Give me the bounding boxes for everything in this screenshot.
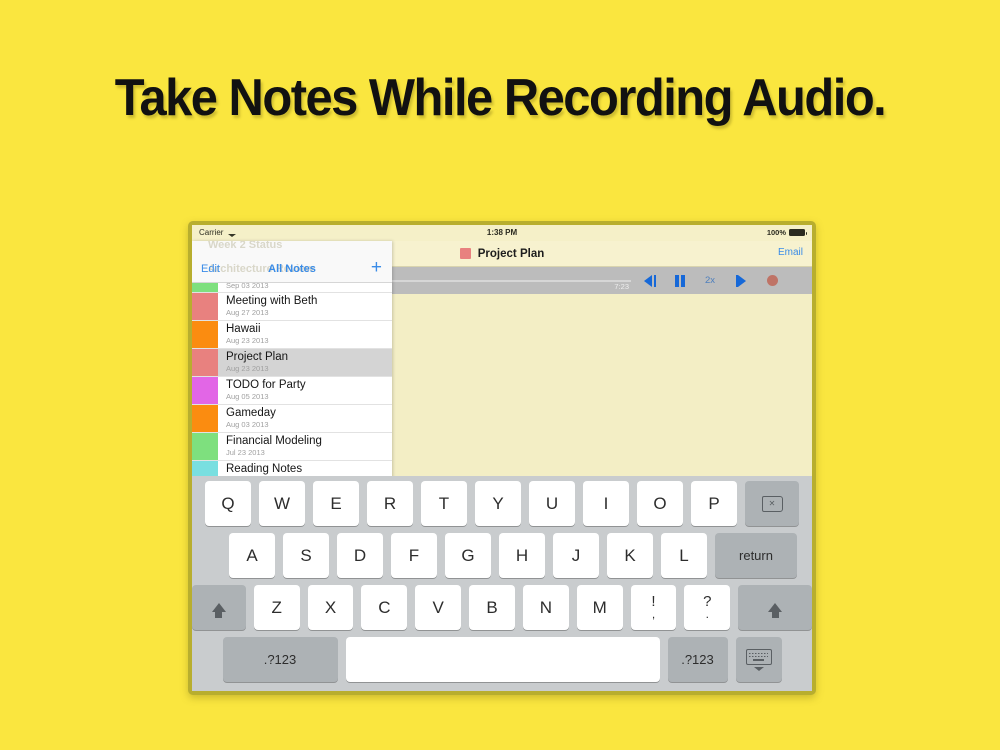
key-m[interactable]: M bbox=[577, 585, 623, 630]
list-item[interactable]: Gameday Aug 03 2013 bbox=[192, 405, 392, 433]
key-i[interactable]: I bbox=[583, 481, 629, 526]
note-item-date: Aug 03 2013 bbox=[226, 420, 269, 429]
key-k[interactable]: K bbox=[607, 533, 653, 578]
notes-list: Sep 03 2013 Meeting with Beth Aug 27 201… bbox=[192, 283, 392, 489]
hide-keyboard-icon bbox=[746, 649, 772, 671]
sidebar-header: Week 2 Status Architecture Review Edit A… bbox=[192, 241, 392, 283]
key-comma-label: , bbox=[652, 609, 655, 620]
note-meta: Sep 03 2013 bbox=[218, 283, 392, 292]
key-t[interactable]: T bbox=[421, 481, 467, 526]
note-item-title: Meeting with Beth bbox=[226, 295, 317, 307]
note-color-swatch bbox=[192, 349, 218, 376]
hide-keyboard-key[interactable] bbox=[736, 637, 782, 682]
sidebar-title: All Notes bbox=[192, 263, 392, 275]
shift-icon bbox=[212, 603, 226, 612]
note-item-date: Aug 27 2013 bbox=[226, 308, 269, 317]
page-title: Take Notes While Recording Audio. bbox=[30, 68, 970, 128]
key-question-period[interactable]: ? . bbox=[684, 585, 730, 630]
status-time: 1:38 PM bbox=[192, 228, 812, 237]
note-color-chip bbox=[460, 248, 471, 259]
key-j[interactable]: J bbox=[553, 533, 599, 578]
list-item-selected[interactable]: Project Plan Aug 23 2013 bbox=[192, 349, 392, 377]
pause-icon bbox=[675, 275, 685, 287]
pause-button[interactable] bbox=[665, 267, 695, 294]
shift-right-key[interactable] bbox=[738, 585, 812, 630]
key-d[interactable]: D bbox=[337, 533, 383, 578]
note-item-date: Jul 23 2013 bbox=[226, 448, 265, 457]
key-h[interactable]: H bbox=[499, 533, 545, 578]
note-meta: TODO for Party Aug 05 2013 bbox=[218, 377, 392, 404]
note-item-date: Aug 23 2013 bbox=[226, 336, 269, 345]
note-meta: Gameday Aug 03 2013 bbox=[218, 405, 392, 432]
key-q[interactable]: Q bbox=[205, 481, 251, 526]
note-color-swatch bbox=[192, 433, 218, 460]
key-b[interactable]: B bbox=[469, 585, 515, 630]
key-c[interactable]: C bbox=[361, 585, 407, 630]
ghost-text-behind-header: Week 2 Status bbox=[208, 241, 282, 251]
note-meta: Hawaii Aug 23 2013 bbox=[218, 321, 392, 348]
note-item-title: Gameday bbox=[226, 407, 276, 419]
key-s[interactable]: S bbox=[283, 533, 329, 578]
key-g[interactable]: G bbox=[445, 533, 491, 578]
step-backward-bar-icon bbox=[654, 275, 657, 287]
note-title: Project Plan bbox=[478, 248, 544, 260]
key-x[interactable]: X bbox=[308, 585, 354, 630]
note-color-swatch bbox=[192, 321, 218, 348]
return-key[interactable]: return bbox=[715, 533, 797, 578]
shift-icon bbox=[768, 603, 782, 612]
shift-left-key[interactable] bbox=[192, 585, 246, 630]
step-forward-button[interactable] bbox=[725, 267, 755, 294]
note-color-swatch bbox=[192, 405, 218, 432]
note-item-title: Financial Modeling bbox=[226, 435, 322, 447]
note-meta: Project Plan Aug 23 2013 bbox=[218, 349, 392, 376]
onscreen-keyboard: Q W E R T Y U I O P ✕ A S D F G H bbox=[192, 476, 812, 691]
note-item-title: Project Plan bbox=[226, 351, 288, 363]
list-item[interactable]: TODO for Party Aug 05 2013 bbox=[192, 377, 392, 405]
key-v[interactable]: V bbox=[415, 585, 461, 630]
note-item-title: Reading Notes bbox=[226, 463, 302, 475]
note-item-title: Hawaii bbox=[226, 323, 261, 335]
key-p[interactable]: P bbox=[691, 481, 737, 526]
playback-controls: 2x bbox=[635, 267, 789, 294]
note-color-swatch bbox=[192, 293, 218, 320]
note-item-date: Aug 23 2013 bbox=[226, 364, 269, 373]
key-a[interactable]: A bbox=[229, 533, 275, 578]
battery-percent-label: 100% bbox=[767, 228, 786, 237]
delete-key[interactable]: ✕ bbox=[745, 481, 799, 526]
key-l[interactable]: L bbox=[661, 533, 707, 578]
record-dot-icon bbox=[767, 275, 778, 286]
email-button[interactable]: Email bbox=[778, 247, 803, 258]
space-key[interactable] bbox=[346, 637, 660, 682]
key-w[interactable]: W bbox=[259, 481, 305, 526]
key-n[interactable]: N bbox=[523, 585, 569, 630]
record-button[interactable] bbox=[755, 267, 789, 294]
keyboard-row-2: A S D F G H J K L return bbox=[192, 533, 812, 578]
note-item-date: Sep 03 2013 bbox=[226, 283, 269, 290]
add-note-icon[interactable]: + bbox=[371, 258, 382, 277]
note-item-title: TODO for Party bbox=[226, 379, 306, 391]
audio-duration-label: 7:23 bbox=[614, 282, 629, 291]
list-item[interactable]: Meeting with Beth Aug 27 2013 bbox=[192, 293, 392, 321]
status-bar: Carrier 1:38 PM 100% bbox=[192, 225, 812, 241]
numeric-right-key[interactable]: .?123 bbox=[668, 637, 728, 682]
note-item-date: Aug 05 2013 bbox=[226, 392, 269, 401]
numeric-left-key[interactable]: .?123 bbox=[223, 637, 338, 682]
playback-speed-label: 2x bbox=[705, 275, 715, 286]
note-meta: Financial Modeling Jul 23 2013 bbox=[218, 433, 392, 460]
key-period-label: . bbox=[706, 609, 709, 620]
step-backward-button[interactable] bbox=[635, 267, 665, 294]
key-z[interactable]: Z bbox=[254, 585, 300, 630]
ipad-device-frame: Project Plan Email 7:23 bbox=[188, 221, 816, 695]
device-screen: Project Plan Email 7:23 bbox=[192, 225, 812, 691]
delete-backward-icon: ✕ bbox=[762, 496, 783, 511]
list-item[interactable]: Hawaii Aug 23 2013 bbox=[192, 321, 392, 349]
playback-speed-button[interactable]: 2x bbox=[695, 267, 725, 294]
keyboard-row-4: .?123 .?123 bbox=[192, 637, 812, 682]
note-meta: Meeting with Beth Aug 27 2013 bbox=[218, 293, 392, 320]
key-y[interactable]: Y bbox=[475, 481, 521, 526]
key-o[interactable]: O bbox=[637, 481, 683, 526]
key-e[interactable]: E bbox=[313, 481, 359, 526]
keyboard-row-3: Z X C V B N M ! , ? . bbox=[192, 585, 812, 630]
note-color-swatch bbox=[192, 377, 218, 404]
step-forward-icon bbox=[738, 275, 746, 287]
key-r[interactable]: R bbox=[367, 481, 413, 526]
key-u[interactable]: U bbox=[529, 481, 575, 526]
keyboard-row-1: Q W E R T Y U I O P ✕ bbox=[192, 481, 812, 526]
key-exclaim-comma[interactable]: ! , bbox=[631, 585, 677, 630]
list-item[interactable]: Sep 03 2013 bbox=[192, 283, 392, 293]
list-item[interactable]: Financial Modeling Jul 23 2013 bbox=[192, 433, 392, 461]
status-right: 100% bbox=[767, 228, 805, 237]
battery-full-icon bbox=[789, 229, 805, 236]
step-backward-icon bbox=[644, 275, 652, 287]
note-color-swatch bbox=[192, 283, 218, 292]
key-f[interactable]: F bbox=[391, 533, 437, 578]
